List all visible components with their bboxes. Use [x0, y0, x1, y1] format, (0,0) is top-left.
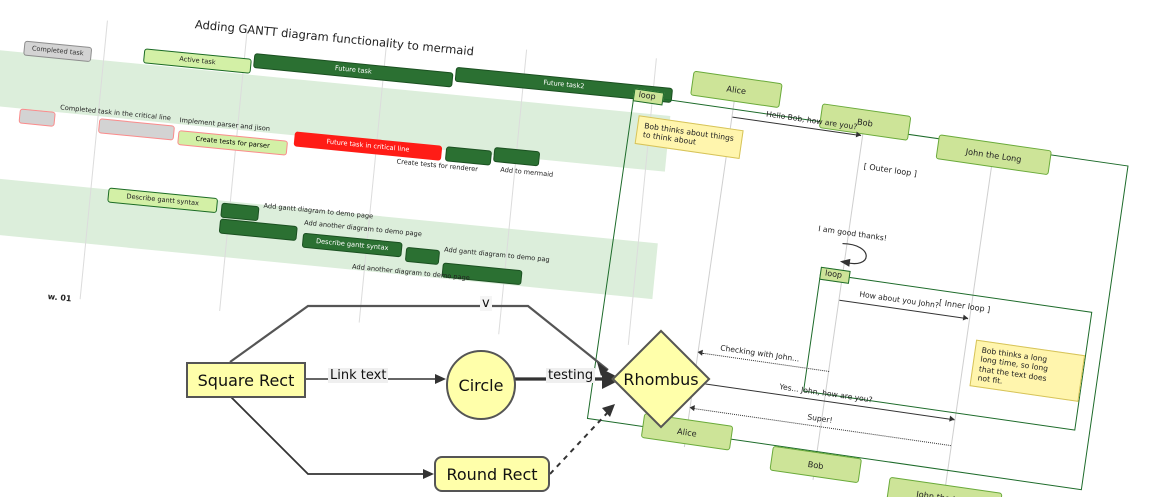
- actor-label: Bob: [857, 116, 874, 128]
- actor-label: John the Long: [916, 488, 973, 497]
- flow-node-square-rect[interactable]: Square Rect: [186, 362, 306, 398]
- message-arrow-how-about-john: [963, 315, 969, 322]
- flowchart: Square Rect Circle Rhombus Round Rect v …: [178, 288, 778, 497]
- message-arrow-hello-bob: [856, 131, 862, 138]
- gantt-bar-label: Create tests for parser: [195, 136, 270, 150]
- flow-edge-label-link-text: Link text: [328, 368, 388, 383]
- actor-alice-top[interactable]: Alice: [690, 71, 783, 109]
- gantt-bar-label: Describe gantt syntax: [126, 193, 199, 207]
- gantt-bar-label: Completed task: [32, 46, 84, 58]
- flow-node-rhombus-label: Rhombus: [614, 364, 708, 394]
- actor-label: Alice: [726, 83, 747, 96]
- flow-edge-label-v: v: [480, 296, 492, 311]
- flow-node-round-rect[interactable]: Round Rect: [434, 456, 550, 492]
- flow-node-label: Circle: [459, 376, 504, 395]
- flow-node-circle[interactable]: Circle: [446, 350, 516, 420]
- flow-node-label: Square Rect: [198, 371, 295, 390]
- gantt-bar-label: Future task2: [543, 80, 585, 91]
- gantt-bar-add-gantt-demo-2[interactable]: [405, 247, 440, 265]
- actor-label: John the Long: [965, 146, 1022, 164]
- message-arrow-yes-john: [949, 416, 955, 423]
- flow-node-label: Round Rect: [446, 465, 537, 484]
- actor-label: Bob: [807, 458, 824, 470]
- actor-john-bottom[interactable]: John the Long: [886, 477, 1002, 497]
- diagram-collage: Adding GANTT diagram functionality to me…: [0, 0, 1170, 497]
- gantt-bar-label: Future task: [335, 65, 372, 75]
- gantt-bar-label: Describe gantt syntax: [316, 238, 389, 252]
- gantt-bar-label: Active task: [179, 56, 216, 66]
- flow-edge-label-testing: testing: [546, 368, 595, 383]
